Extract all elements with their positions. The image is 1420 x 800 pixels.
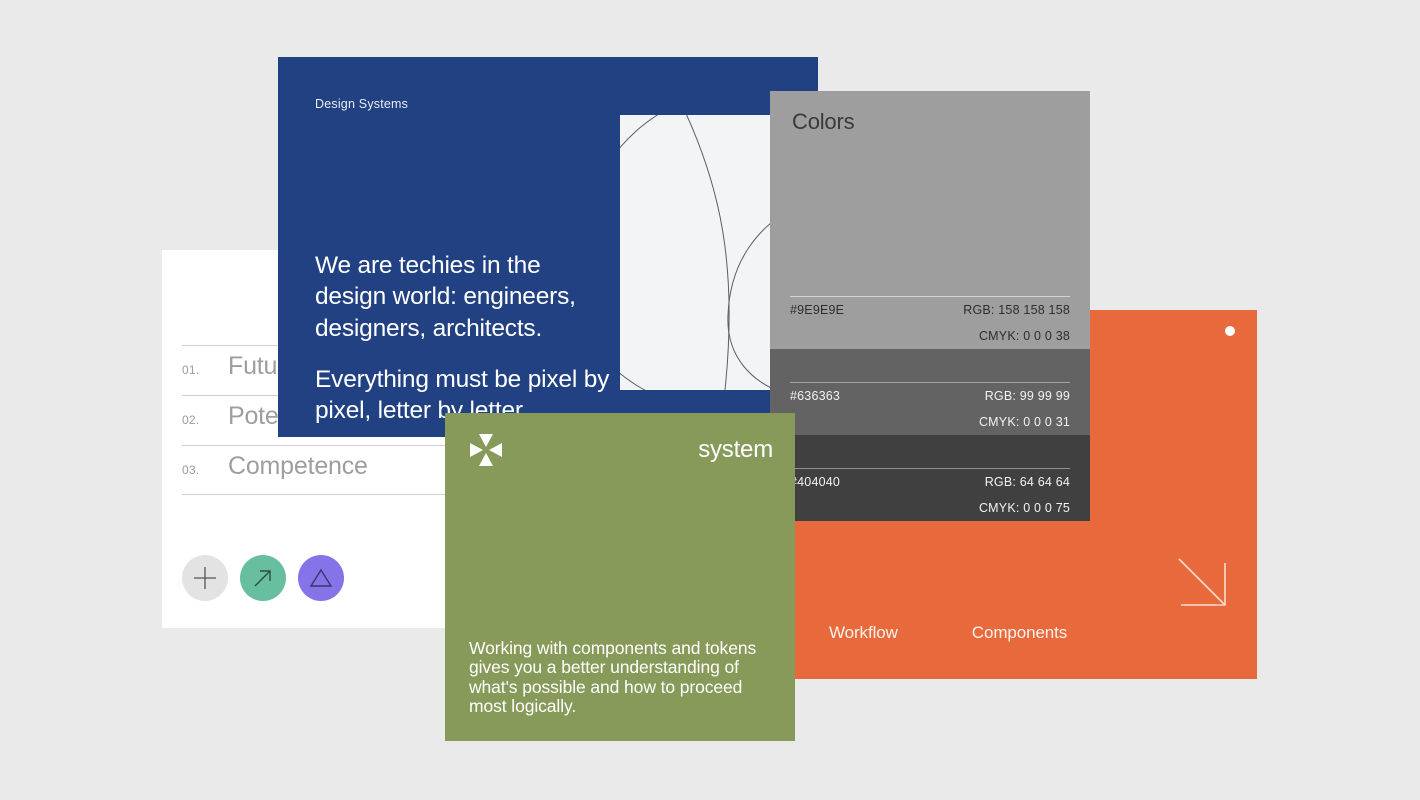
color-swatch[interactable]: #404040 RGB: 64 64 64 CMYK: 0 0 0 75 bbox=[770, 435, 1090, 521]
swatch-line-cmyk: CMYK: 0 0 0 75 bbox=[790, 495, 1070, 521]
swatch-line-rgb: #9E9E9E RGB: 158 158 158 bbox=[790, 296, 1070, 323]
hero-card: Design Systems We are techies in the des… bbox=[278, 57, 818, 437]
open-button[interactable] bbox=[240, 555, 286, 601]
hero-paragraph: We are techies in the design world: engi… bbox=[315, 250, 615, 344]
poster-canvas: 01. Future 02. Potential 03. Competence bbox=[0, 0, 1420, 800]
triangle-icon bbox=[309, 567, 333, 589]
swatch-rgb: RGB: 158 158 158 bbox=[963, 303, 1070, 317]
status-dot-icon bbox=[1225, 326, 1235, 336]
colors-panel: Colors #9E9E9E RGB: 158 158 158 CMYK: 0 … bbox=[770, 91, 1090, 521]
diagonal-arrow-graphic bbox=[1177, 557, 1237, 617]
list-item-number: 01. bbox=[182, 363, 228, 377]
list-item-label: Competence bbox=[228, 452, 368, 481]
action-button-group bbox=[182, 555, 344, 601]
green-card: system Working with components and token… bbox=[445, 413, 795, 741]
green-card-header: system bbox=[469, 433, 773, 467]
nav-item-workflow[interactable]: Workflow bbox=[829, 623, 898, 643]
orange-nav: Workflow Components bbox=[793, 623, 1257, 643]
add-button[interactable] bbox=[182, 555, 228, 601]
swatch-line-rgb: #636363 RGB: 99 99 99 bbox=[790, 382, 1070, 409]
list-item-number: 03. bbox=[182, 463, 228, 477]
hero-kicker: Design Systems bbox=[315, 97, 408, 111]
green-wordmark: system bbox=[698, 436, 773, 464]
shape-button[interactable] bbox=[298, 555, 344, 601]
swatch-line-rgb: #404040 RGB: 64 64 64 bbox=[790, 468, 1070, 495]
list-item-number: 02. bbox=[182, 413, 228, 427]
abstract-arcs-graphic bbox=[620, 115, 785, 390]
color-swatch[interactable]: Colors #9E9E9E RGB: 158 158 158 CMYK: 0 … bbox=[770, 91, 1090, 349]
colors-panel-title: Colors bbox=[792, 109, 854, 135]
hero-artwork bbox=[620, 115, 785, 390]
arrow-down-right-icon bbox=[1177, 557, 1237, 617]
arrow-up-right-icon bbox=[252, 567, 274, 589]
swatch-cmyk: CMYK: 0 0 0 75 bbox=[979, 501, 1070, 515]
swatch-info: #404040 RGB: 64 64 64 CMYK: 0 0 0 75 bbox=[790, 468, 1070, 521]
hero-copy: We are techies in the design world: engi… bbox=[315, 250, 615, 427]
swatch-line-cmyk: CMYK: 0 0 0 38 bbox=[790, 323, 1070, 349]
swatch-info: #636363 RGB: 99 99 99 CMYK: 0 0 0 31 bbox=[790, 382, 1070, 435]
color-swatch[interactable]: #636363 RGB: 99 99 99 CMYK: 0 0 0 31 bbox=[770, 349, 1090, 435]
pinwheel-cross-icon bbox=[469, 433, 503, 467]
plus-icon bbox=[192, 565, 218, 591]
swatch-rgb: RGB: 64 64 64 bbox=[985, 475, 1070, 489]
swatch-rgb: RGB: 99 99 99 bbox=[985, 389, 1070, 403]
nav-item-components[interactable]: Components bbox=[972, 623, 1067, 643]
swatch-cmyk: CMYK: 0 0 0 31 bbox=[979, 415, 1070, 429]
swatch-hex: #9E9E9E bbox=[790, 303, 844, 317]
green-card-body: Working with components and tokens gives… bbox=[469, 639, 771, 717]
swatch-cmyk: CMYK: 0 0 0 38 bbox=[979, 329, 1070, 343]
swatch-hex: #404040 bbox=[790, 475, 840, 489]
swatch-info: #9E9E9E RGB: 158 158 158 CMYK: 0 0 0 38 bbox=[790, 296, 1070, 349]
swatch-hex: #636363 bbox=[790, 389, 840, 403]
swatch-line-cmyk: CMYK: 0 0 0 31 bbox=[790, 409, 1070, 435]
